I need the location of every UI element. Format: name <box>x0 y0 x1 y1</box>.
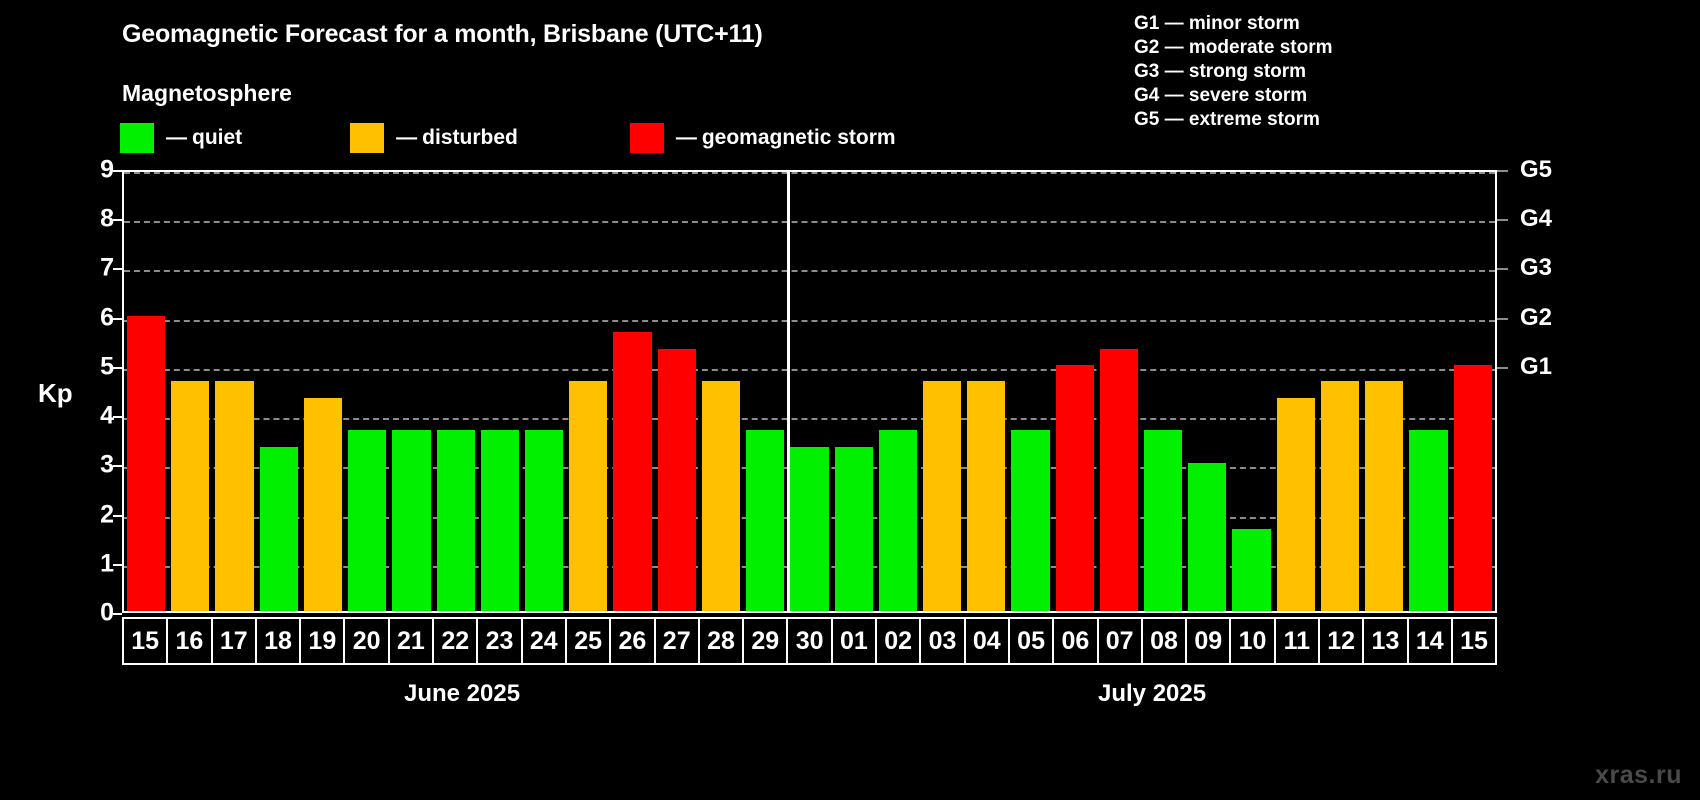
bar-29-quiet[interactable] <box>746 430 784 611</box>
g-tick-mark-g5 <box>1497 170 1508 172</box>
day-label-12[interactable]: 27 <box>656 619 700 663</box>
bar-slot-24[interactable] <box>522 172 566 611</box>
bar-slot-30[interactable] <box>787 172 831 611</box>
bar-13-disturbed[interactable] <box>1365 381 1403 611</box>
bar-slot-07[interactable] <box>1097 172 1141 611</box>
bar-30-quiet[interactable] <box>790 447 828 611</box>
g-tick-mark-g2 <box>1497 318 1508 320</box>
g-tick-mark-g4 <box>1497 219 1508 221</box>
y-axis-labels: 0123456789 <box>78 170 114 613</box>
g-legend-row-g4: G4 — severe storm <box>1134 84 1333 108</box>
day-label-20[interactable]: 05 <box>1010 619 1054 663</box>
legend-label: geomagnetic storm <box>702 126 896 150</box>
day-label-8[interactable]: 23 <box>478 619 522 663</box>
month-caption-july: July 2025 <box>1098 680 1206 708</box>
legend-dash: — <box>676 126 697 150</box>
day-label-9[interactable]: 24 <box>523 619 567 663</box>
color-legend: —quiet—disturbed—geomagnetic storm <box>120 122 896 154</box>
day-label-0[interactable]: 15 <box>124 619 168 663</box>
bar-slot-18[interactable] <box>257 172 301 611</box>
legend-dash: — <box>166 126 187 150</box>
day-label-16[interactable]: 01 <box>833 619 877 663</box>
bar-28-disturbed[interactable] <box>702 381 740 611</box>
disturbed-swatch <box>350 123 384 153</box>
day-label-11[interactable]: 26 <box>611 619 655 663</box>
magnetosphere-label: Magnetosphere <box>122 80 292 107</box>
y-tick-label-6: 6 <box>100 303 114 332</box>
y-tick-label-4: 4 <box>100 402 114 431</box>
bar-slot-03[interactable] <box>920 172 964 611</box>
bar-19-disturbed[interactable] <box>304 398 342 611</box>
g-tick-label-g1: G1 <box>1520 353 1552 381</box>
g-legend-row-g1: G1 — minor storm <box>1134 12 1333 36</box>
day-label-1[interactable]: 16 <box>168 619 212 663</box>
bar-09-quiet[interactable] <box>1188 463 1226 611</box>
day-label-14[interactable]: 29 <box>744 619 788 663</box>
y-axis-title: Kp <box>38 378 73 409</box>
bar-15-storm[interactable] <box>127 316 165 611</box>
legend-label: disturbed <box>422 126 518 150</box>
y-tick-mark-0 <box>113 613 122 615</box>
y-tick-mark-5 <box>113 367 122 369</box>
y-tick-label-5: 5 <box>100 352 114 381</box>
y-tick-mark-7 <box>113 268 122 270</box>
day-label-19[interactable]: 04 <box>966 619 1010 663</box>
legend-item-disturbed: —disturbed <box>350 122 518 154</box>
bar-slot-26[interactable] <box>610 172 654 611</box>
day-label-24[interactable]: 09 <box>1187 619 1231 663</box>
bar-21-quiet[interactable] <box>392 430 430 611</box>
bar-slot-08[interactable] <box>1141 172 1185 611</box>
day-label-7[interactable]: 22 <box>434 619 478 663</box>
g-scale-legend: G1 — minor stormG2 — moderate stormG3 — … <box>1134 12 1333 132</box>
g-tick-label-g2: G2 <box>1520 304 1552 332</box>
bar-slot-17[interactable] <box>212 172 256 611</box>
bar-slot-02[interactable] <box>876 172 920 611</box>
legend-item-quiet: —quiet <box>120 122 242 154</box>
g-legend-row-g2: G2 — moderate storm <box>1134 36 1333 60</box>
bar-23-quiet[interactable] <box>481 430 519 611</box>
bar-01-quiet[interactable] <box>835 447 873 611</box>
bar-05-quiet[interactable] <box>1011 430 1049 611</box>
month-caption-june: June 2025 <box>404 680 520 708</box>
y-tick-label-1: 1 <box>100 549 114 578</box>
bar-14-quiet[interactable] <box>1409 430 1447 611</box>
bar-22-quiet[interactable] <box>437 430 475 611</box>
y-tick-label-8: 8 <box>100 205 114 234</box>
bar-slot-19[interactable] <box>301 172 345 611</box>
day-label-18[interactable]: 03 <box>921 619 965 663</box>
bar-12-disturbed[interactable] <box>1321 381 1359 611</box>
bar-25-disturbed[interactable] <box>569 381 607 611</box>
bar-slot-12[interactable] <box>1318 172 1362 611</box>
quiet-swatch <box>120 123 154 153</box>
bar-slot-21[interactable] <box>389 172 433 611</box>
bar-slot-15[interactable] <box>1451 172 1495 611</box>
day-label-25[interactable]: 10 <box>1231 619 1275 663</box>
bar-24-quiet[interactable] <box>525 430 563 611</box>
bar-slot-05[interactable] <box>1008 172 1052 611</box>
day-label-4[interactable]: 19 <box>301 619 345 663</box>
bar-slot-22[interactable] <box>434 172 478 611</box>
bar-slot-14[interactable] <box>1406 172 1450 611</box>
bar-07-storm[interactable] <box>1100 349 1138 611</box>
bar-11-disturbed[interactable] <box>1277 398 1315 611</box>
bar-15-storm[interactable] <box>1454 365 1492 611</box>
page-title: Geomagnetic Forecast for a month, Brisba… <box>122 20 763 49</box>
y-tick-label-7: 7 <box>100 254 114 283</box>
bar-slot-29[interactable] <box>743 172 787 611</box>
bar-slot-11[interactable] <box>1274 172 1318 611</box>
y-tick-mark-8 <box>113 219 122 221</box>
legend-item-geomagnetic: —geomagnetic storm <box>630 122 896 154</box>
y-tick-label-9: 9 <box>100 156 114 185</box>
y-tick-label-0: 0 <box>100 599 114 628</box>
bar-06-storm[interactable] <box>1056 365 1094 611</box>
bar-slot-16[interactable] <box>168 172 212 611</box>
watermark: xras.ru <box>1595 761 1682 790</box>
bar-04-disturbed[interactable] <box>967 381 1005 611</box>
bar-08-quiet[interactable] <box>1144 430 1182 611</box>
g-legend-row-g5: G5 — extreme storm <box>1134 108 1333 132</box>
bar-series <box>124 172 1495 611</box>
day-label-15[interactable]: 30 <box>788 619 832 663</box>
bar-slot-06[interactable] <box>1053 172 1097 611</box>
bar-slot-04[interactable] <box>964 172 1008 611</box>
day-label-23[interactable]: 08 <box>1143 619 1187 663</box>
bar-10-quiet[interactable] <box>1232 529 1270 611</box>
plot-area <box>122 170 1497 613</box>
day-label-26[interactable]: 11 <box>1276 619 1320 663</box>
g-tick-mark-g3 <box>1497 268 1508 270</box>
bar-02-quiet[interactable] <box>879 430 917 611</box>
legend-label: quiet <box>192 126 242 150</box>
day-label-30[interactable]: 15 <box>1453 619 1495 663</box>
day-label-2[interactable]: 17 <box>213 619 257 663</box>
bar-slot-15[interactable] <box>124 172 168 611</box>
bar-18-quiet[interactable] <box>260 447 298 611</box>
day-label-22[interactable]: 07 <box>1099 619 1143 663</box>
g-legend-row-g3: G3 — strong storm <box>1134 60 1333 84</box>
y-tick-mark-3 <box>113 465 122 467</box>
month-divider <box>787 172 790 611</box>
bar-17-disturbed[interactable] <box>215 381 253 611</box>
y-tick-label-3: 3 <box>100 451 114 480</box>
bar-slot-09[interactable] <box>1185 172 1229 611</box>
bar-16-disturbed[interactable] <box>171 381 209 611</box>
y-tick-mark-6 <box>113 318 122 320</box>
day-label-6[interactable]: 21 <box>390 619 434 663</box>
day-label-17[interactable]: 02 <box>877 619 921 663</box>
bar-slot-23[interactable] <box>478 172 522 611</box>
bar-slot-25[interactable] <box>566 172 610 611</box>
bar-slot-27[interactable] <box>655 172 699 611</box>
bar-20-quiet[interactable] <box>348 430 386 611</box>
bar-27-storm[interactable] <box>658 349 696 611</box>
bar-slot-20[interactable] <box>345 172 389 611</box>
y-tick-mark-4 <box>113 416 122 418</box>
day-label-3[interactable]: 18 <box>257 619 301 663</box>
g-axis: G1G2G3G4G5 <box>1497 170 1617 613</box>
plot-inner <box>124 172 1495 611</box>
g-tick-label-g5: G5 <box>1520 156 1552 184</box>
g-tick-label-g4: G4 <box>1520 205 1552 233</box>
day-label-13[interactable]: 28 <box>700 619 744 663</box>
y-tick-mark-1 <box>113 564 122 566</box>
y-tick-label-2: 2 <box>100 500 114 529</box>
bar-03-disturbed[interactable] <box>923 381 961 611</box>
day-label-27[interactable]: 12 <box>1320 619 1364 663</box>
bar-slot-10[interactable] <box>1229 172 1273 611</box>
bar-slot-01[interactable] <box>832 172 876 611</box>
bar-26-storm[interactable] <box>613 332 651 611</box>
g-tick-label-g3: G3 <box>1520 254 1552 282</box>
g-tick-mark-g1 <box>1497 367 1508 369</box>
day-label-21[interactable]: 06 <box>1054 619 1098 663</box>
y-tick-mark-2 <box>113 515 122 517</box>
bar-slot-28[interactable] <box>699 172 743 611</box>
storm-swatch <box>630 123 664 153</box>
day-label-10[interactable]: 25 <box>567 619 611 663</box>
bar-slot-13[interactable] <box>1362 172 1406 611</box>
legend-dash: — <box>396 126 417 150</box>
x-axis-day-labels: 1516171819202122232425262728293001020304… <box>122 617 1497 665</box>
day-label-29[interactable]: 14 <box>1409 619 1453 663</box>
day-label-28[interactable]: 13 <box>1364 619 1408 663</box>
day-label-5[interactable]: 20 <box>345 619 389 663</box>
y-tick-mark-9 <box>113 170 122 172</box>
